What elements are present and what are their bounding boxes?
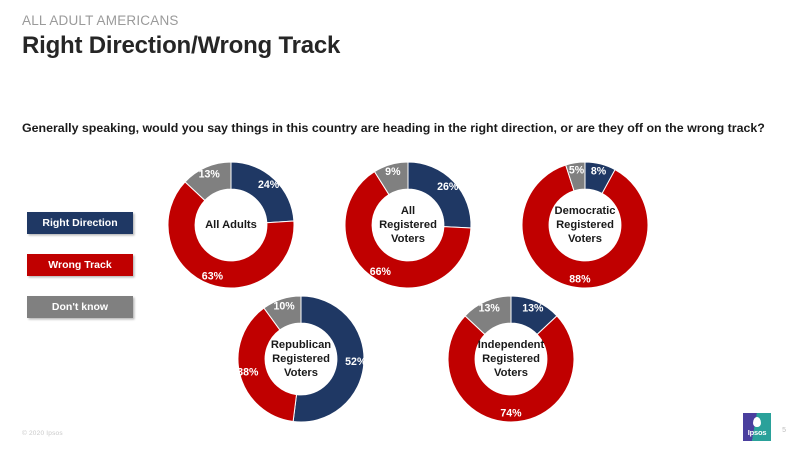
slice-value-label: 38% xyxy=(237,366,259,378)
slice-value-label: 66% xyxy=(370,266,392,278)
slice-value-label: 26% xyxy=(437,181,459,193)
legend-item-label: Right Direction xyxy=(42,217,117,229)
ipsos-logo: Ipsos xyxy=(743,413,771,441)
page-title: Right Direction/Wrong Track xyxy=(22,31,340,61)
slice-value-label: 13% xyxy=(522,302,544,314)
legend-item-label: Wrong Track xyxy=(48,259,111,271)
page-number: 5 xyxy=(782,427,786,434)
slice-value-label: 13% xyxy=(199,168,221,180)
ipsos-logo-mark-icon xyxy=(753,417,761,427)
legend-item-dont-know[interactable]: Don't know xyxy=(27,296,133,318)
slice-value-label: 88% xyxy=(569,273,591,285)
donut-chart-all-registered-voters: 26%66%9%AllRegisteredVoters xyxy=(345,162,471,288)
slice-value-label: 8% xyxy=(591,166,607,178)
legend-item-right-direction[interactable]: Right Direction xyxy=(27,212,133,234)
donut-chart-independent-registered-voters: 13%74%13%IndependentRegisteredVoters xyxy=(448,296,574,422)
survey-question: Generally speaking, would you say things… xyxy=(22,119,767,138)
slice-value-label: 24% xyxy=(258,179,280,191)
ipsos-logo-text: Ipsos xyxy=(748,428,767,438)
eyebrow-label: ALL ADULT AMERICANS xyxy=(22,12,340,30)
donut-chart-all-adults: 24%63%13%All Adults xyxy=(168,162,294,288)
donut-chart-republican-registered-voters: 52%38%10%RepublicanRegisteredVoters xyxy=(238,296,364,422)
donut-slice-right-direction[interactable] xyxy=(408,162,471,228)
slice-value-label: 74% xyxy=(500,408,522,420)
slice-value-label: 63% xyxy=(202,270,224,282)
slice-value-label: 10% xyxy=(273,301,295,313)
legend-item-label: Don't know xyxy=(52,301,108,313)
legend-item-wrong-track[interactable]: Wrong Track xyxy=(27,254,133,276)
slide-header: ALL ADULT AMERICANS Right Direction/Wron… xyxy=(22,12,340,61)
slice-value-label: 13% xyxy=(479,302,501,314)
donut-chart-democratic-registered-voters: 8%88%5%DemocraticRegisteredVoters xyxy=(522,162,648,288)
copyright-notice: © 2020 Ipsos xyxy=(22,430,63,437)
donut-slice-wrong-track[interactable] xyxy=(448,316,574,422)
slice-value-label: 5% xyxy=(569,165,585,177)
slice-value-label: 52% xyxy=(345,356,367,368)
slice-value-label: 9% xyxy=(385,166,401,178)
legend: Right Direction Wrong Track Don't know xyxy=(27,212,133,338)
donut-slice-right-direction[interactable] xyxy=(231,162,294,223)
